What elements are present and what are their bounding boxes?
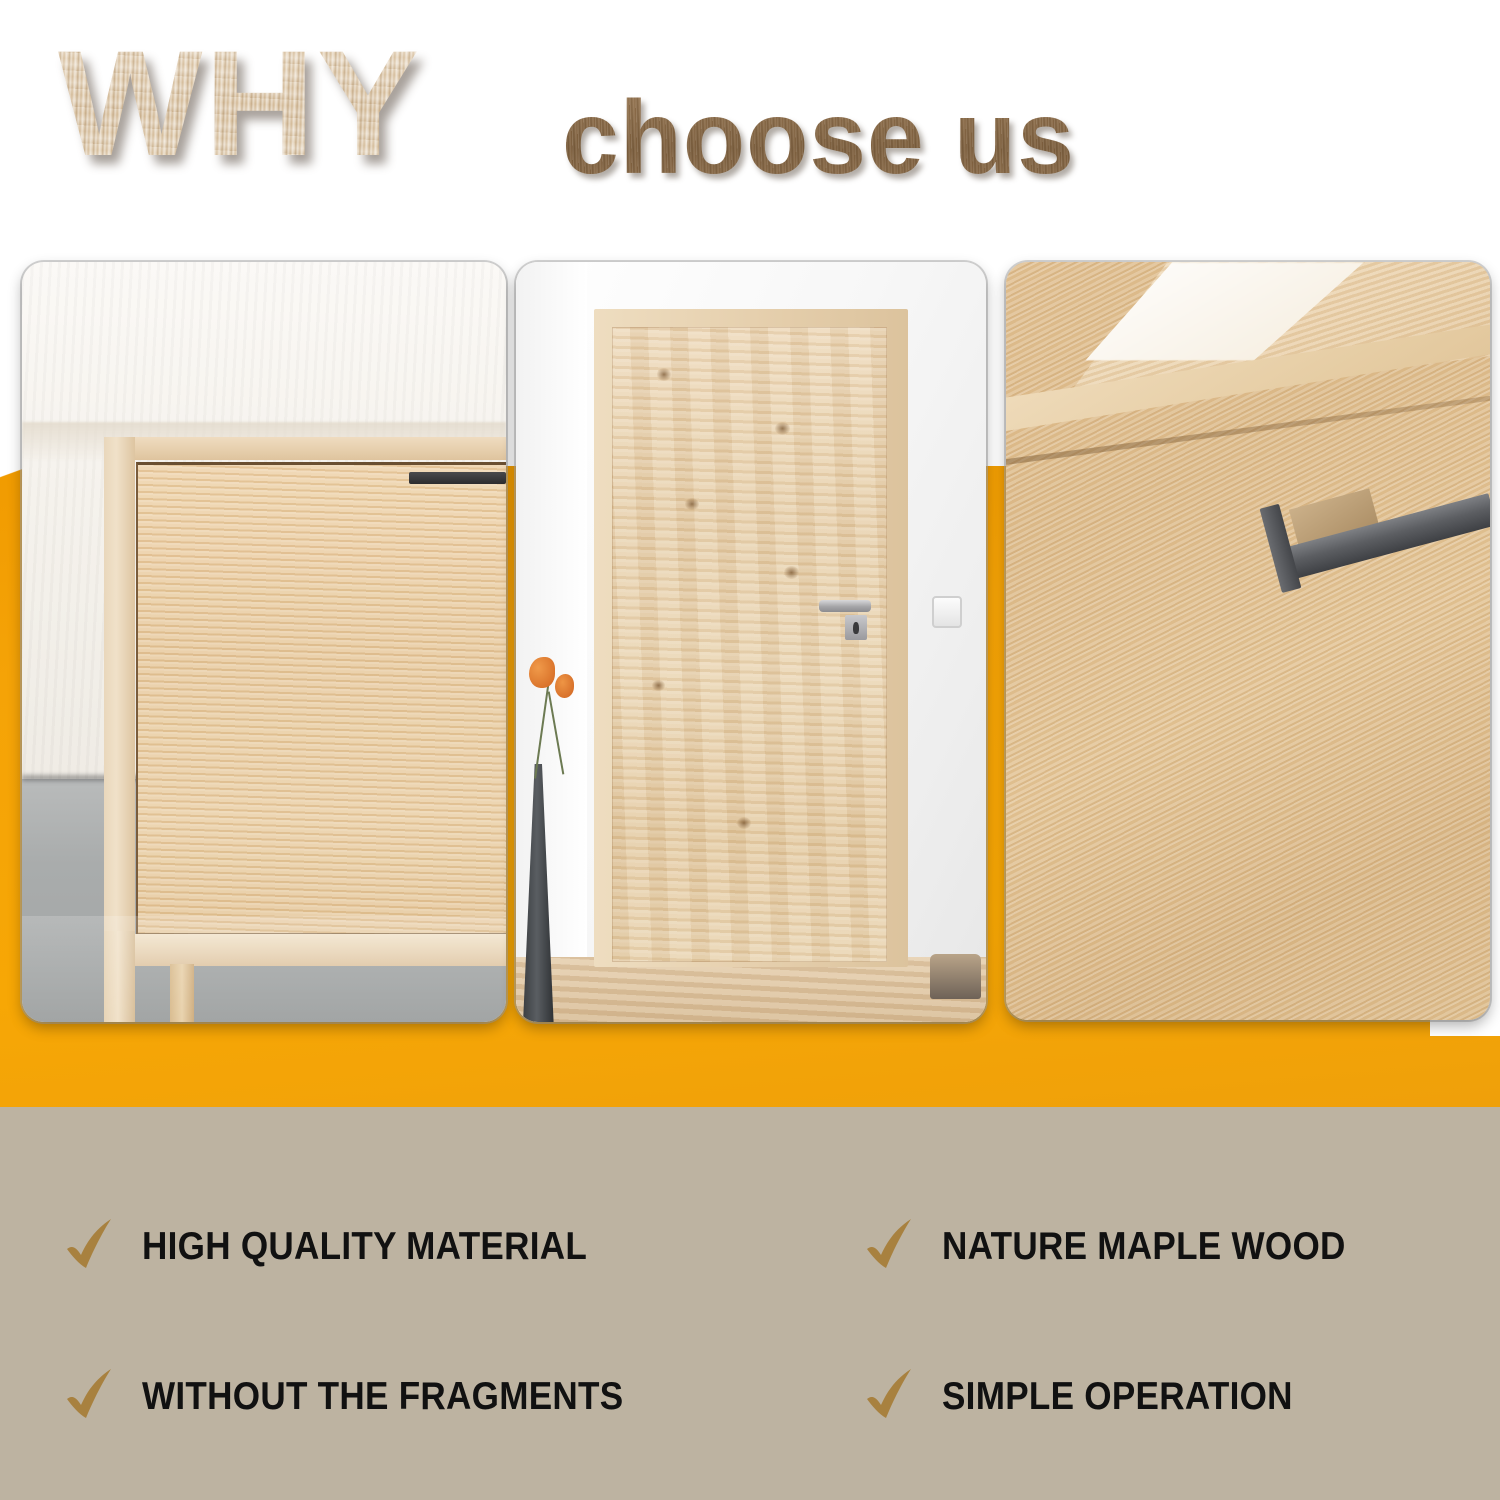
feature-item-3: NATURE MAPLE WOOD bbox=[862, 1215, 1391, 1279]
wood-knot-icon bbox=[652, 680, 664, 691]
feature-label: SIMPLE OPERATION bbox=[942, 1376, 1293, 1418]
check-icon bbox=[862, 1366, 924, 1428]
oak-sideboard-photo bbox=[22, 262, 506, 1022]
feature-item-2: WITHOUT THE FRAGMENTS bbox=[62, 1365, 677, 1429]
oak-door-photo bbox=[516, 262, 986, 1022]
why-choose-us-infographic: WHY choose us bbox=[0, 0, 1500, 1500]
gallery-card-1[interactable] bbox=[22, 262, 506, 1022]
feature-item-1: HIGH QUALITY MATERIAL bbox=[62, 1215, 637, 1279]
gallery-card-2[interactable] bbox=[516, 262, 986, 1022]
wood-knot-icon bbox=[657, 368, 671, 380]
poppy-flower-icon bbox=[555, 674, 575, 698]
page-title-rest: choose us bbox=[562, 86, 1075, 190]
wood-knot-icon bbox=[784, 566, 799, 579]
oak-drawer-handle-photo bbox=[1006, 262, 1490, 1020]
features-list: HIGH QUALITY MATERIAL WITHOUT THE FRAGME… bbox=[0, 1107, 1500, 1500]
poppy-flower-icon bbox=[529, 657, 554, 687]
wood-stool bbox=[930, 954, 982, 1000]
check-icon bbox=[62, 1366, 124, 1428]
wood-knot-icon bbox=[685, 498, 699, 510]
bar-pull-handle bbox=[1282, 486, 1490, 653]
page-title-highlight: WHY bbox=[58, 28, 421, 178]
keyhole-icon bbox=[853, 622, 858, 633]
feature-label: WITHOUT THE FRAGMENTS bbox=[142, 1376, 623, 1418]
door-lever-handle bbox=[819, 600, 871, 611]
gallery-card-3[interactable] bbox=[1006, 262, 1490, 1020]
wood-knot-icon bbox=[737, 817, 751, 829]
cabinet-top-panel bbox=[104, 437, 506, 461]
oak-door-leaf bbox=[612, 327, 887, 962]
cabinet-bar-handle bbox=[409, 472, 506, 484]
side-wall bbox=[516, 262, 587, 1022]
check-icon bbox=[62, 1216, 124, 1278]
feature-label: HIGH QUALITY MATERIAL bbox=[142, 1226, 587, 1268]
wood-floor bbox=[516, 957, 986, 1022]
cabinet-door-panel bbox=[136, 462, 506, 936]
feature-item-4: SIMPLE OPERATION bbox=[862, 1365, 1332, 1429]
page-header: WHY choose us bbox=[0, 0, 1500, 240]
check-icon bbox=[862, 1216, 924, 1278]
cabinet-left-post bbox=[104, 437, 134, 992]
feature-label: NATURE MAPLE WOOD bbox=[942, 1226, 1346, 1268]
light-switch bbox=[932, 596, 962, 627]
floor-reflection bbox=[22, 916, 506, 1022]
